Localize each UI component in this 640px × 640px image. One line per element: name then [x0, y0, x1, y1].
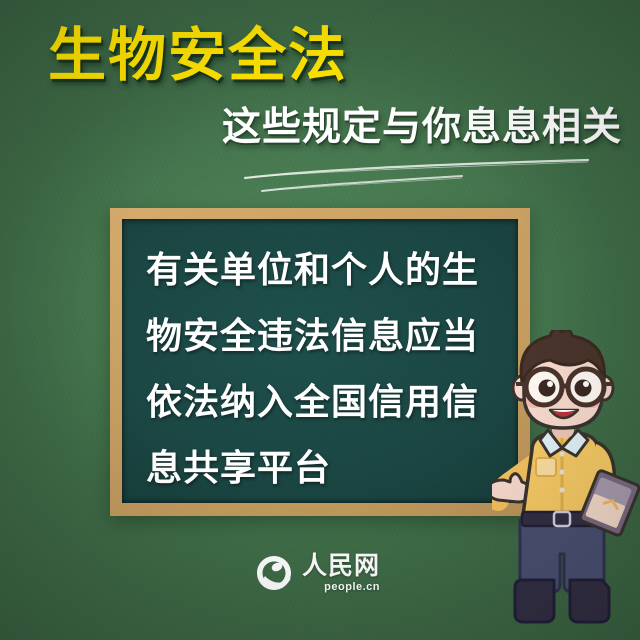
teacher-head — [513, 330, 614, 428]
blackboard-line: 物安全违法信息应当 — [146, 303, 512, 369]
page-subtitle: 这些规定与你息息相关 — [222, 108, 622, 147]
blackboard-line: 有关单位和个人的生 — [146, 237, 512, 303]
blackboard-surface: 有关单位和个人的生 物安全违法信息应当 依法纳入全国信用信 息共享平台 — [122, 219, 518, 503]
poster-canvas: 生物安全法 这些规定与你息息相关 有关单位和个人的生 物安全违法信息应当 依法纳… — [0, 0, 640, 640]
page-title: 生物安全法 — [48, 26, 348, 84]
logo-name-cn: 人民网 — [302, 553, 380, 578]
teacher-shoes — [515, 580, 609, 622]
logo-name-en: people.cn — [324, 582, 380, 593]
people-cn-logo: 人民网 people.cn — [255, 553, 380, 593]
blackboard-frame: 有关单位和个人的生 物安全违法信息应当 依法纳入全国信用信 息共享平台 — [110, 208, 530, 516]
blackboard-text-block: 有关单位和个人的生 物安全违法信息应当 依法纳入全国信用信 息共享平台 — [146, 237, 512, 501]
chalk-swoosh-decoration — [230, 158, 590, 204]
teacher-illustration — [492, 330, 640, 640]
people-cn-globe-icon — [255, 554, 293, 592]
blackboard-line: 依法纳入全国信用信 — [146, 369, 512, 435]
blackboard-line: 息共享平台 — [146, 435, 512, 501]
logo-text-block: 人民网 people.cn — [302, 553, 380, 593]
